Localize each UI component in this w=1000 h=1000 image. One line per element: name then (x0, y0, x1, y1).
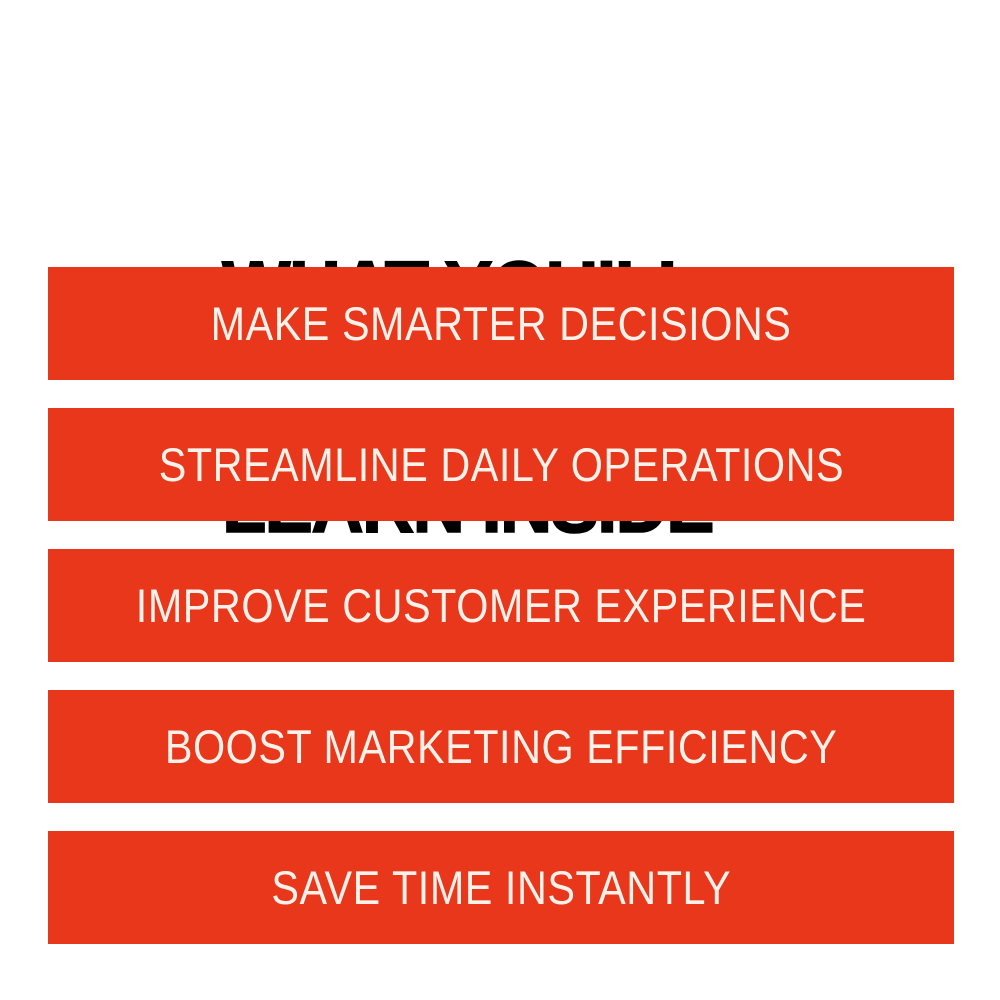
benefit-bar-2: STREAMLINE DAILY OPERATIONS (48, 408, 954, 521)
benefits-list: MAKE SMARTER DECISIONS STREAMLINE DAILY … (48, 267, 954, 944)
benefit-bar-5: SAVE TIME INSTANTLY (48, 831, 954, 944)
benefit-bar-3: IMPROVE CUSTOMER EXPERIENCE (48, 549, 954, 662)
benefit-label-4: BOOST MARKETING EFFICIENCY (165, 723, 838, 770)
benefit-label-5: SAVE TIME INSTANTLY (271, 864, 731, 911)
poster-canvas: WHAT YOU’LL LEARN INSIDE MAKE SMARTER DE… (0, 0, 1000, 1000)
benefit-label-3: IMPROVE CUSTOMER EXPERIENCE (136, 582, 867, 629)
benefit-label-1: MAKE SMARTER DECISIONS (211, 300, 792, 347)
benefit-bar-1: MAKE SMARTER DECISIONS (48, 267, 954, 380)
benefit-label-2: STREAMLINE DAILY OPERATIONS (158, 441, 843, 488)
benefit-bar-4: BOOST MARKETING EFFICIENCY (48, 690, 954, 803)
